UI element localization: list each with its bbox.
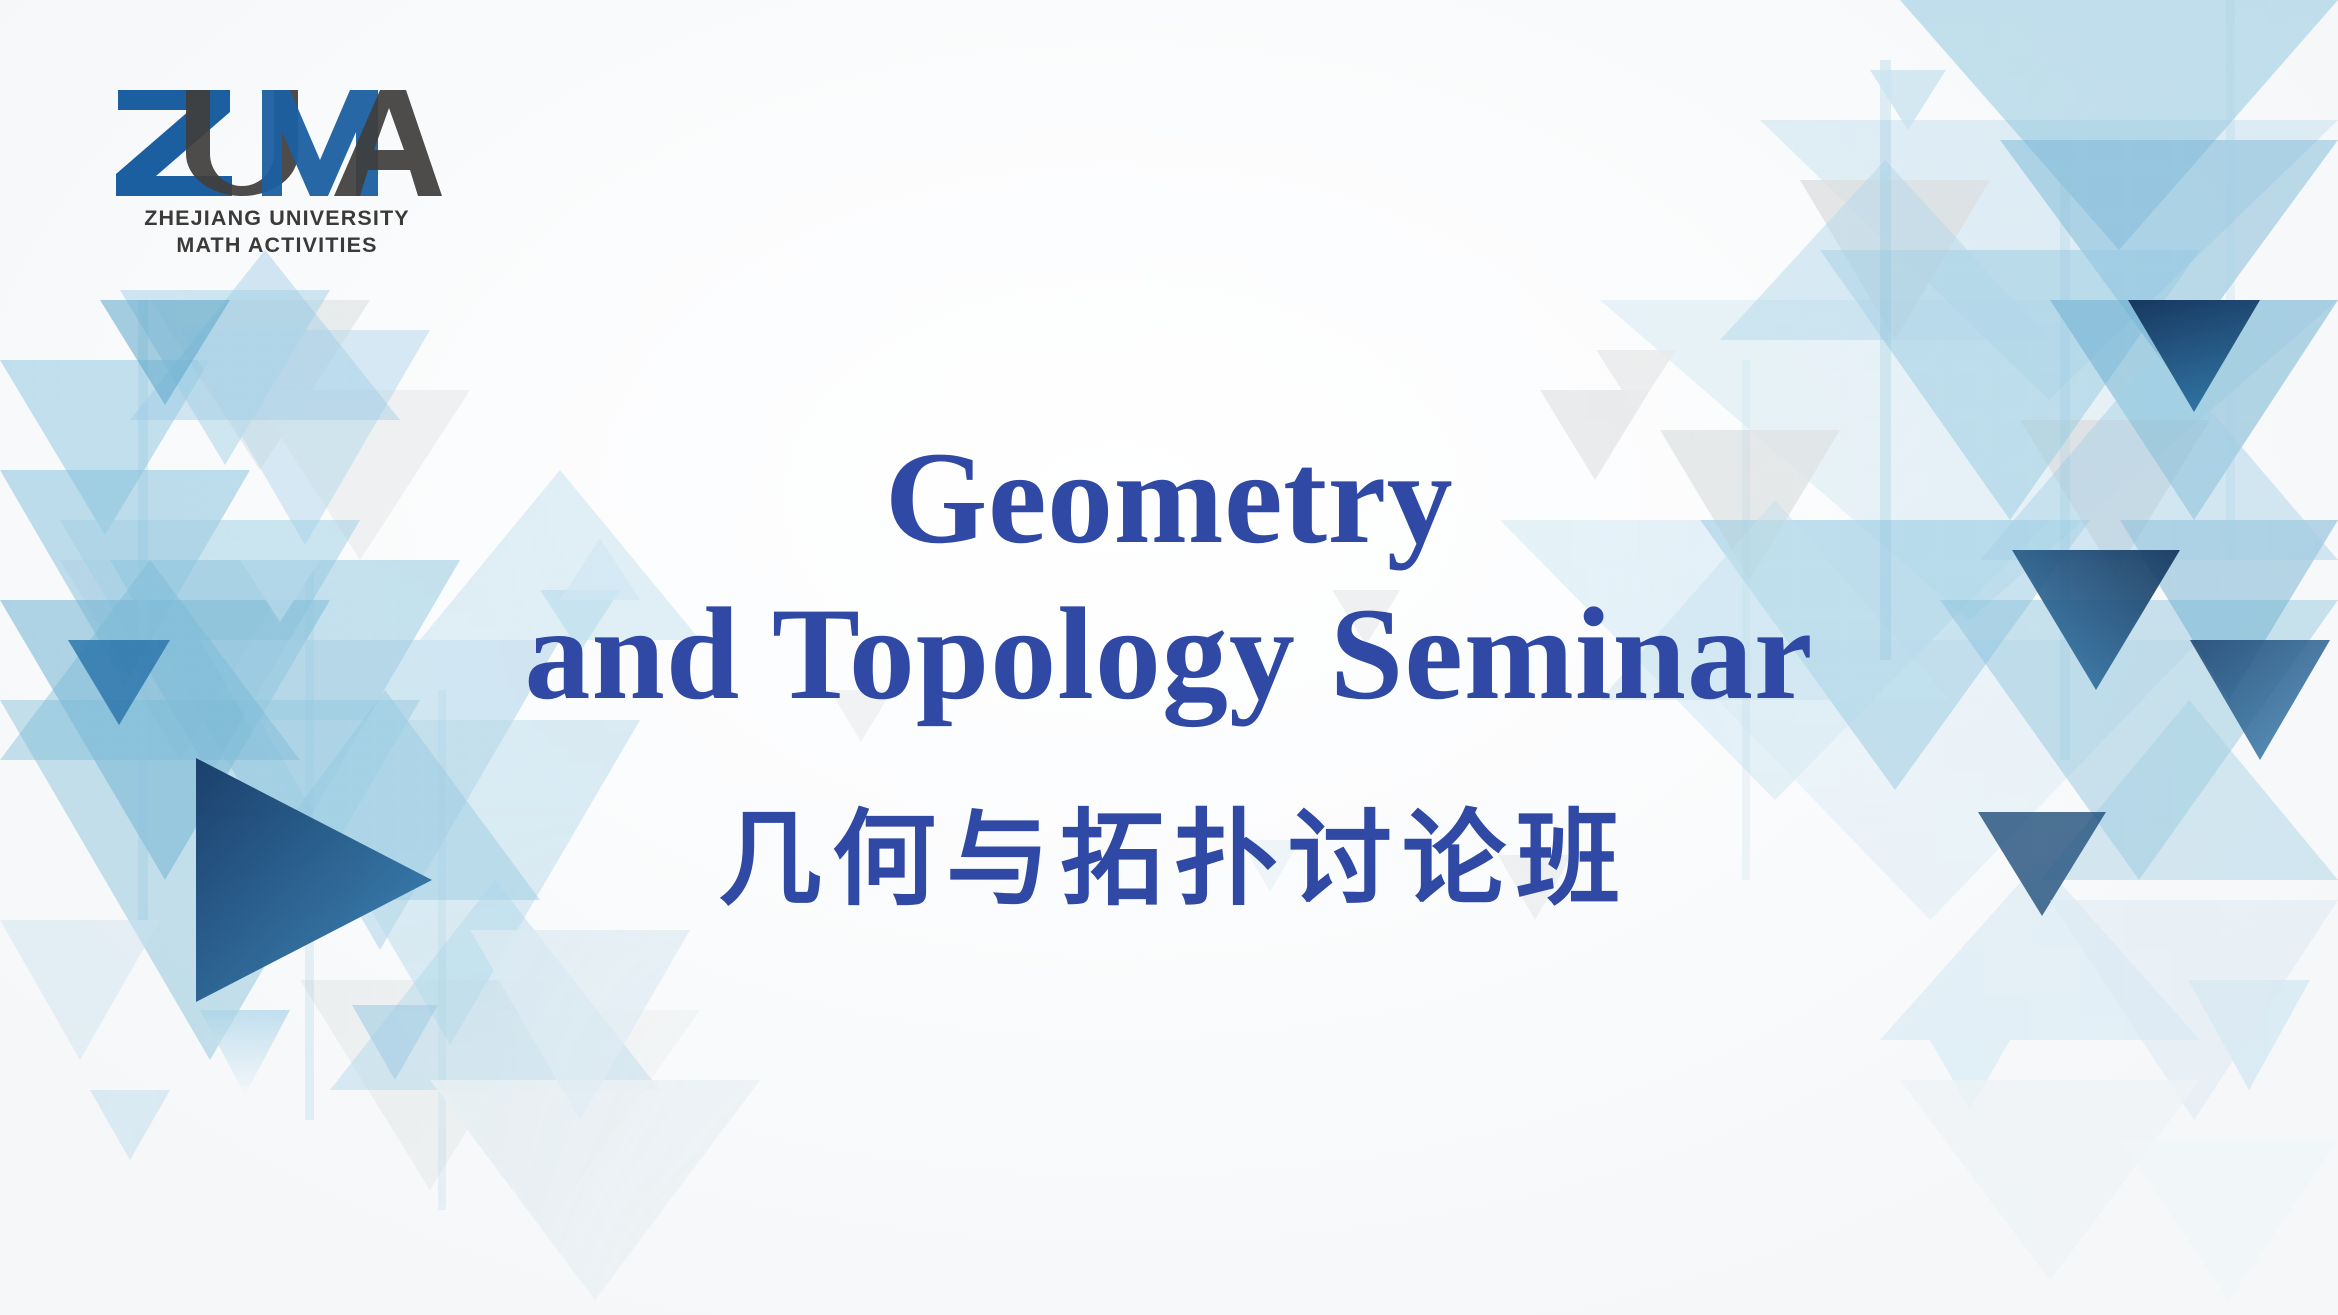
title-line-2: and Topology Seminar (0, 576, 2338, 732)
title-slide: ZHEJIANG UNIVERSITY MATH ACTIVITIES Geom… (0, 0, 2338, 1315)
logo-subtitle-line1: ZHEJIANG UNIVERSITY (112, 205, 442, 232)
logo-subtitle-line2: MATH ACTIVITIES (112, 232, 442, 259)
title-line-1: Geometry (0, 420, 2338, 576)
seminar-title-chinese: 几何与拓扑讨论班 (0, 802, 2338, 916)
zuma-wordmark-icon (112, 88, 442, 198)
title-block: Geometry and Topology Seminar 几何与拓扑讨论班 (0, 420, 2338, 916)
seminar-title-english: Geometry and Topology Seminar (0, 420, 2338, 732)
zuma-logo: ZHEJIANG UNIVERSITY MATH ACTIVITIES (112, 88, 472, 260)
logo-subtitle: ZHEJIANG UNIVERSITY MATH ACTIVITIES (112, 205, 442, 260)
